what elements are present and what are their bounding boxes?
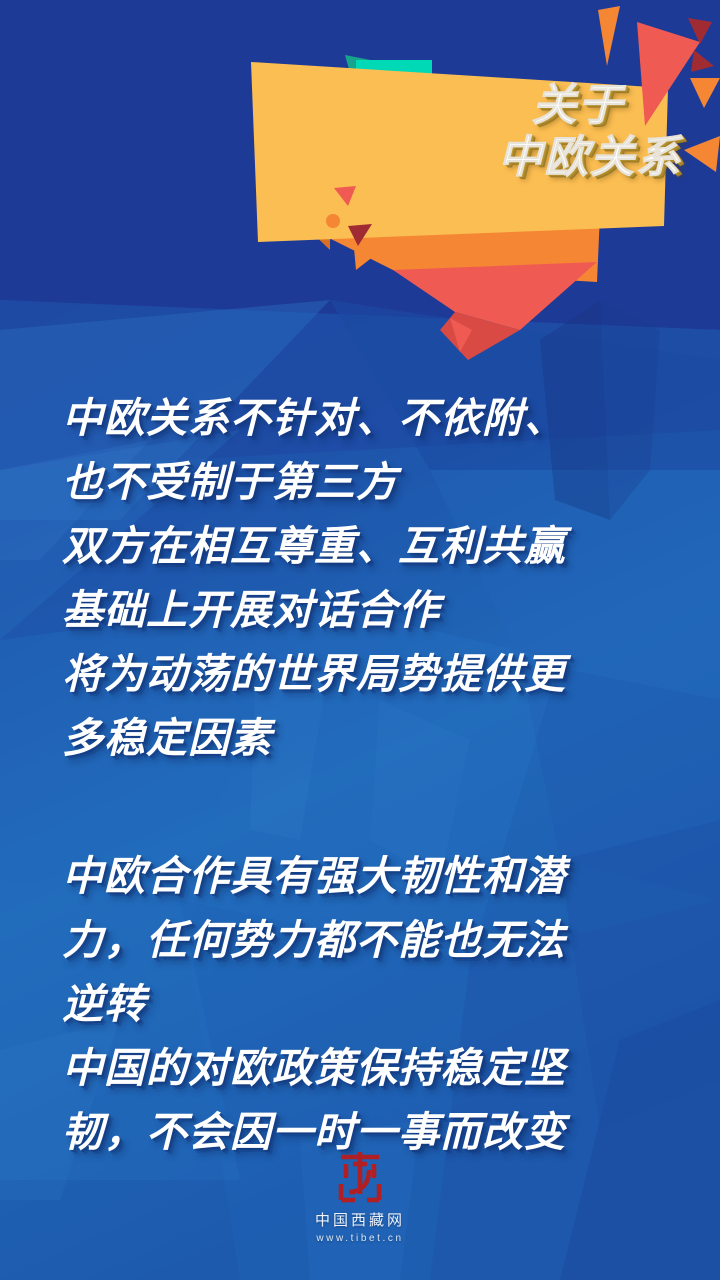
copy-line: 多稳定因素 bbox=[62, 706, 662, 770]
dot-orange bbox=[326, 214, 340, 228]
triangle-red-1 bbox=[637, 22, 700, 126]
triangle-maroon-2 bbox=[691, 50, 714, 72]
header-decoration bbox=[0, 0, 720, 360]
copy-line: 将为动荡的世界局势提供更 bbox=[62, 642, 662, 706]
copy-line: 基础上开展对话合作 bbox=[62, 578, 662, 642]
paragraph-2: 中欧合作具有强大韧性和潜 力，任何势力都不能也无法 逆转 中国的对欧政策保持稳定… bbox=[62, 844, 662, 1164]
paragraph-1: 中欧关系不针对、不依附、 也不受制于第三方 双方在相互尊重、互利共赢 基础上开展… bbox=[62, 386, 662, 770]
site-name: 中国西藏网 bbox=[0, 1213, 720, 1230]
copy-line: 中欧关系不针对、不依附、 bbox=[62, 386, 662, 450]
main-copy: 中欧关系不针对、不依附、 也不受制于第三方 双方在相互尊重、互利共赢 基础上开展… bbox=[62, 386, 662, 1164]
copy-line: 逆转 bbox=[62, 972, 662, 1036]
copy-line: 中欧合作具有强大韧性和潜 bbox=[62, 844, 662, 908]
copy-line: 双方在相互尊重、互利共赢 bbox=[62, 514, 662, 578]
triangle-orange-1 bbox=[598, 6, 620, 66]
site-url: www.tibet.cn bbox=[0, 1233, 720, 1244]
banner-yellow bbox=[251, 62, 668, 242]
ribbon-red bbox=[393, 262, 597, 330]
copy-line: 也不受制于第三方 bbox=[62, 450, 662, 514]
copy-line: 力，任何势力都不能也无法 bbox=[62, 908, 662, 972]
copy-line: 中国的对欧政策保持稳定坚 bbox=[62, 1036, 662, 1100]
triangle-orange-3 bbox=[684, 136, 720, 172]
triangle-orange-2 bbox=[690, 78, 720, 108]
footer-branding: 中国西藏网 www.tibet.cn bbox=[0, 1148, 720, 1245]
tibet-seal-icon bbox=[331, 1148, 389, 1206]
poster-canvas: 关于 中欧关系 中欧关系不针对、不依附、 也不受制于第三方 双方在相互尊重、互利… bbox=[0, 0, 720, 1280]
